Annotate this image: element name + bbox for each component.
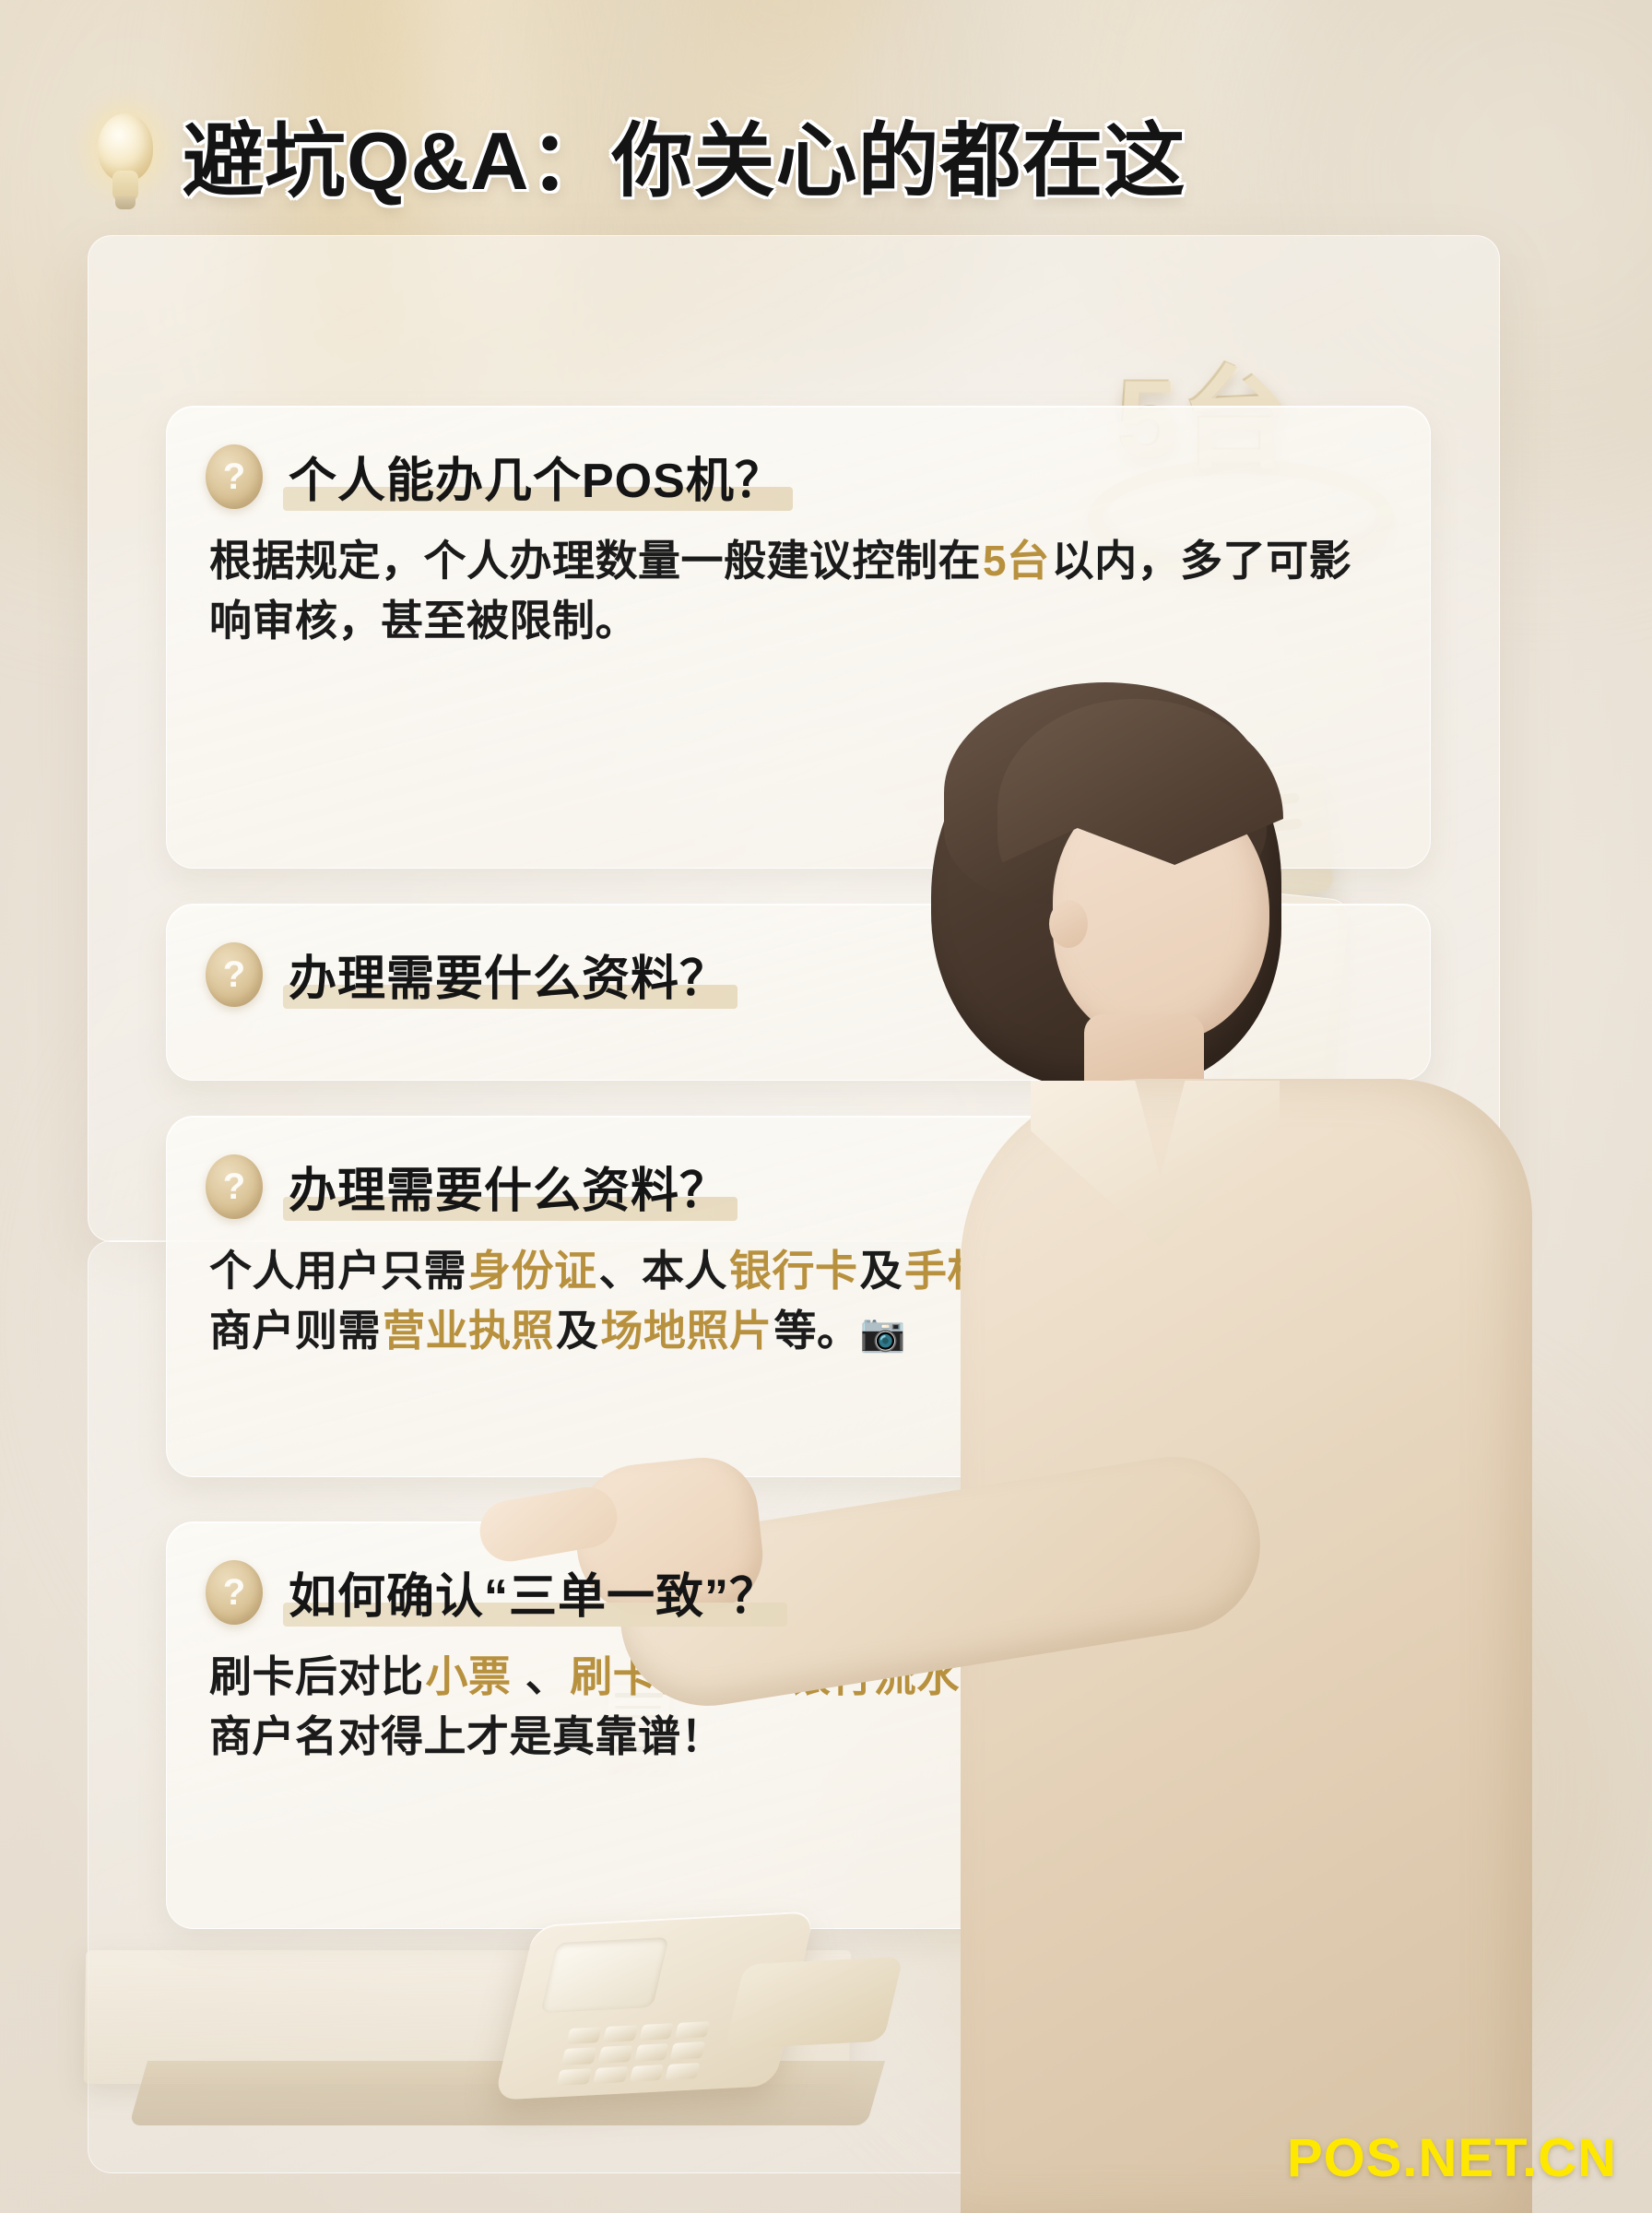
- question-mark-icon: ?: [206, 942, 263, 1007]
- faq-card[interactable]: ? 个人能办几个POS机？ 根据规定，个人办理数量一般建议控制在5台以内，多了可…: [166, 406, 1431, 869]
- answer-run: ，: [962, 1652, 1005, 1700]
- answer-run: 及: [860, 1247, 903, 1295]
- question-mark-icon: ?: [206, 1154, 263, 1219]
- answer-run: 个人用户只需: [209, 1247, 466, 1295]
- question-text: 办理需要什么资料？: [283, 1150, 734, 1223]
- answer-run: [513, 1652, 525, 1700]
- faq-card[interactable]: ? 办理需要什么资料？: [166, 904, 1431, 1081]
- answer-run: 根据规定，个人办理数量一般建议控制在: [209, 537, 981, 585]
- answer-run: 商户名对得上才是真靠谱！: [209, 1712, 724, 1760]
- answer-run: 、本人: [599, 1247, 728, 1295]
- answer-highlight: 5台: [981, 537, 1052, 585]
- answer-highlight: 银行流水: [786, 1652, 962, 1700]
- answer-highlight: 手机号: [903, 1247, 1035, 1295]
- question-row: ? 办理需要什么资料？: [167, 905, 1430, 1011]
- answer-text: 个人用户只需身份证、本人银行卡及手机号；商户则需营业执照及场地照片等。📷: [167, 1223, 1430, 1362]
- question-row: ? 如何确认“三单一致”？: [167, 1522, 1430, 1628]
- answer-highlight: 小票: [424, 1652, 513, 1700]
- question-mark-icon: ?: [206, 444, 263, 509]
- answer-run: 和: [743, 1652, 786, 1700]
- answer-run: ；: [1035, 1247, 1079, 1295]
- answer-run: 📷: [860, 1313, 906, 1354]
- page-title: 避坑Q&A：你关心的都在这: [183, 121, 1186, 202]
- question-text: 个人能办几个POS机？: [283, 440, 789, 513]
- answer-highlight: 营业执照: [381, 1307, 556, 1355]
- question-mark-icon: ?: [206, 1560, 263, 1625]
- answer-run: 及: [556, 1307, 599, 1355]
- answer-highlight: 银行卡: [727, 1247, 860, 1295]
- faq-card[interactable]: ? 办理需要什么资料？ 个人用户只需身份证、本人银行卡及手机号；商户则需营业执照…: [166, 1116, 1431, 1477]
- watermark: POS.NET.CN: [1287, 2127, 1617, 2189]
- glass-panel-shelf: [129, 2061, 885, 2125]
- answer-text: 刷卡后对比小票 、刷卡记录和银行流水，商户名对得上才是真靠谱！: [167, 1628, 1430, 1768]
- answer-highlight: 场地照片: [599, 1307, 774, 1355]
- question-row: ? 办理需要什么资料？: [167, 1117, 1430, 1223]
- answer-run: 刷卡后对比: [209, 1652, 424, 1700]
- answer-highlight: 身份证: [466, 1247, 599, 1295]
- question-row: ? 个人能办几个POS机？: [167, 407, 1430, 513]
- answer-run: 等。: [774, 1307, 860, 1355]
- answer-run: 商户则需: [209, 1307, 381, 1355]
- question-text: 办理需要什么资料？: [283, 938, 734, 1011]
- question-text: 如何确认“三单一致”？: [283, 1556, 784, 1628]
- page-title-row: 避坑Q&A：你关心的都在这: [92, 111, 1567, 212]
- lightbulb-icon: [92, 113, 159, 209]
- faq-card[interactable]: ? 如何确认“三单一致”？ 刷卡后对比小票 、刷卡记录和银行流水，商户名对得上才…: [166, 1521, 1431, 1929]
- answer-run: 、: [525, 1652, 569, 1700]
- answer-text: 根据规定，个人办理数量一般建议控制在5台以内，多了可影响审核，甚至被限制。: [167, 513, 1430, 652]
- answer-highlight: 刷卡记录: [568, 1652, 743, 1700]
